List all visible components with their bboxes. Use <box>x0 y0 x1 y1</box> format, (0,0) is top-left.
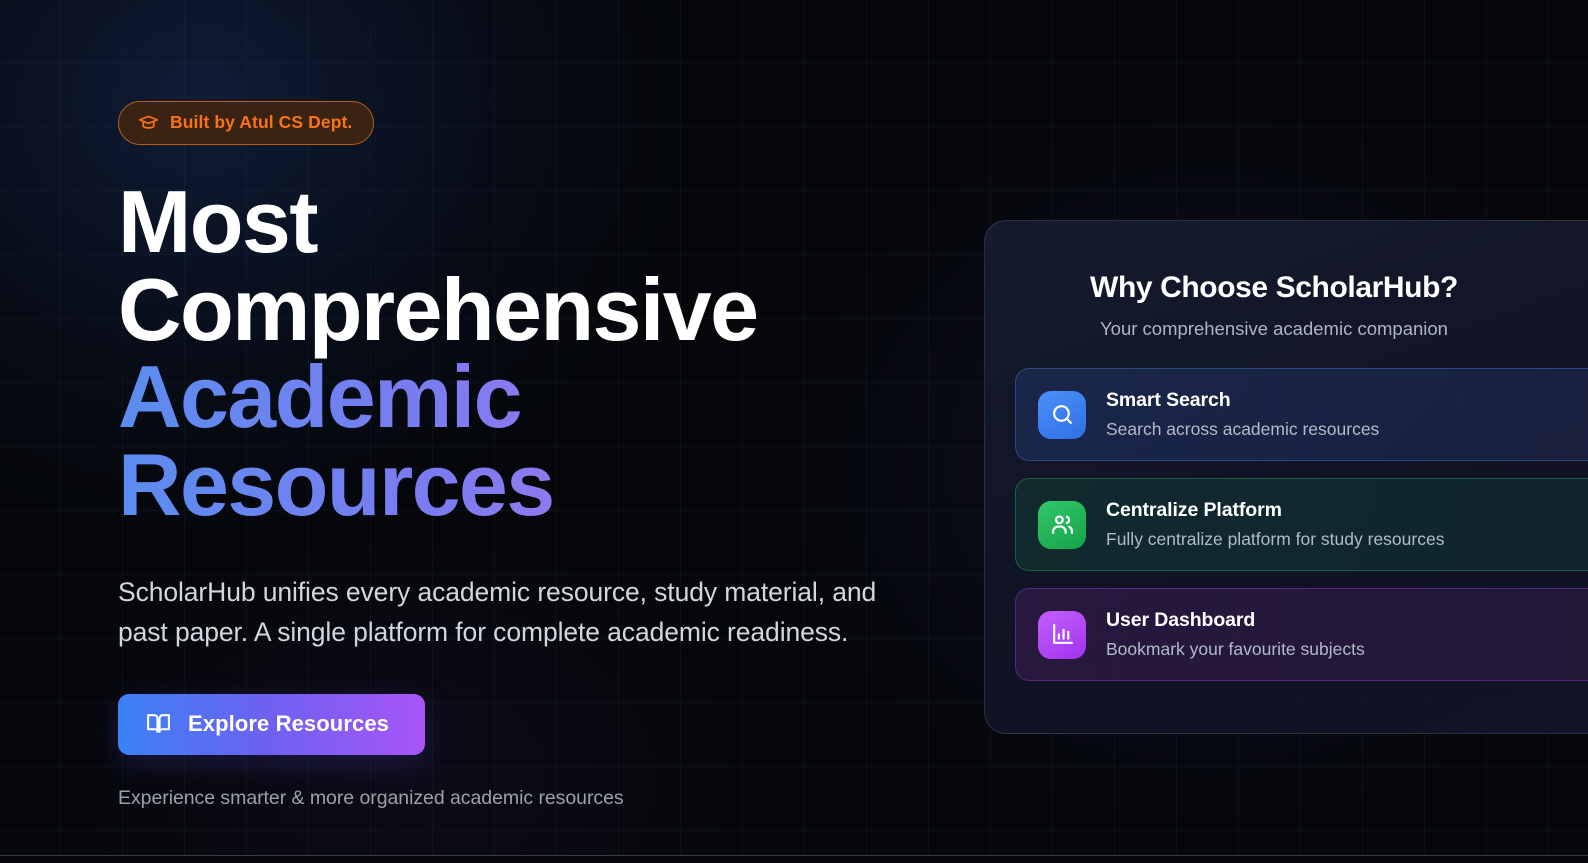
feature-description: Bookmark your favourite subjects <box>1106 639 1365 660</box>
feature-card-user-dashboard[interactable]: User Dashboard Bookmark your favourite s… <box>1015 588 1588 681</box>
feature-title: Smart Search <box>1106 389 1379 412</box>
why-choose-subtitle: Your comprehensive academic companion <box>1015 318 1588 340</box>
feature-list: Smart Search Search across academic reso… <box>1015 368 1588 681</box>
bottom-scroll-strip[interactable] <box>0 856 1588 863</box>
explore-resources-button[interactable]: Explore Resources <box>118 694 425 755</box>
users-icon <box>1038 501 1086 549</box>
feature-card-centralize-platform[interactable]: Centralize Platform Fully centralize pla… <box>1015 478 1588 571</box>
feature-title: Centralize Platform <box>1106 499 1444 522</box>
feature-text: User Dashboard Bookmark your favourite s… <box>1106 609 1365 660</box>
book-open-icon <box>146 711 171 736</box>
why-choose-panel: Why Choose ScholarHub? Your comprehensiv… <box>984 220 1588 734</box>
explore-resources-label: Explore Resources <box>188 711 389 737</box>
headline-line-2: Comprehensive <box>118 266 948 354</box>
feature-title: User Dashboard <box>1106 609 1365 632</box>
headline-gradient-line-2: Resources <box>118 441 948 529</box>
headline-gradient-line-1: Academic <box>118 353 948 441</box>
feature-card-smart-search[interactable]: Smart Search Search across academic reso… <box>1015 368 1588 461</box>
hero-paragraph: ScholarHub unifies every academic resour… <box>118 572 918 653</box>
feature-description: Fully centralize platform for study reso… <box>1106 529 1444 550</box>
feature-text: Smart Search Search across academic reso… <box>1106 389 1379 440</box>
hero-page: Built by Atul CS Dept. Most Comprehensiv… <box>0 0 1588 863</box>
bar-chart-icon <box>1038 611 1086 659</box>
search-icon <box>1038 391 1086 439</box>
graduation-cap-icon <box>138 112 159 133</box>
page-title: Most Comprehensive Academic Resources <box>118 178 948 528</box>
hero-sub-note: Experience smarter & more organized acad… <box>118 787 948 810</box>
why-choose-title: Why Choose ScholarHub? <box>1015 271 1588 305</box>
feature-description: Search across academic resources <box>1106 419 1379 440</box>
headline-line-1: Most <box>118 178 948 266</box>
built-by-badge[interactable]: Built by Atul CS Dept. <box>118 101 374 145</box>
built-by-badge-label: Built by Atul CS Dept. <box>170 112 352 133</box>
feature-text: Centralize Platform Fully centralize pla… <box>1106 499 1444 550</box>
hero-left-column: Built by Atul CS Dept. Most Comprehensiv… <box>118 0 948 810</box>
